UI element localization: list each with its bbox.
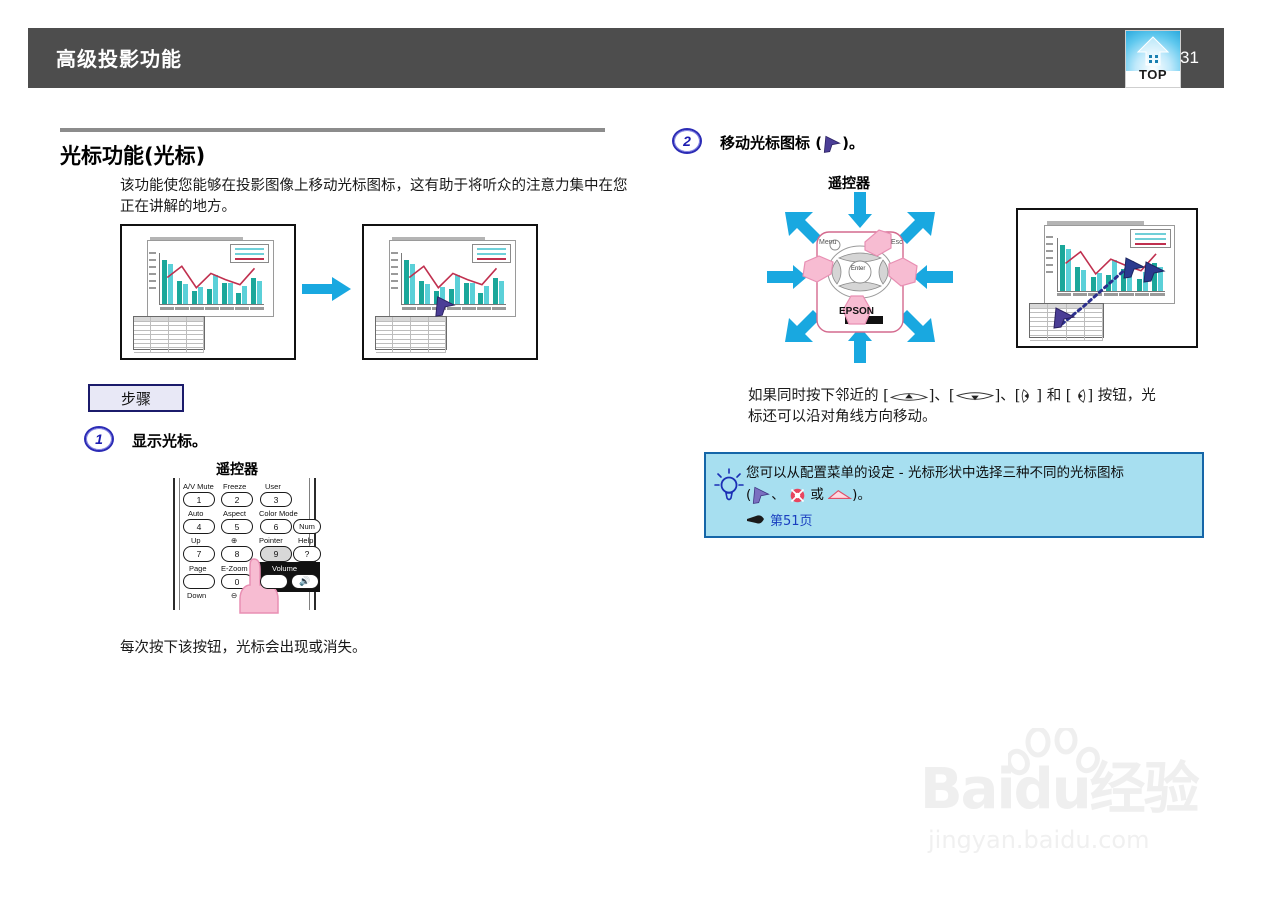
step-2-label-after: )。 <box>842 134 864 152</box>
note-text-1: 如果同时按下邻近的 [ <box>748 388 889 404</box>
step-2-number: 2 <box>672 128 702 154</box>
remote-key-6[interactable]: 6 <box>260 519 292 534</box>
y-axis-ticks <box>391 252 400 306</box>
button-left-icon <box>1020 388 1036 404</box>
button-down-icon <box>955 389 995 404</box>
note-text-2: ]、[ <box>929 388 955 404</box>
page-title: 高级投影功能 <box>56 43 182 72</box>
key-label-pointer: Pointer <box>259 536 283 545</box>
button-up-icon <box>889 389 929 404</box>
key-label-colormode: Color Mode <box>259 509 298 518</box>
key-label-down: Down <box>187 591 206 600</box>
steps-heading-label: 步骤 <box>121 388 151 409</box>
top-badge-label: TOP <box>1126 67 1180 82</box>
tip-separator-1: 、 <box>771 487 785 503</box>
key-label-avmute: A/V Mute <box>183 482 214 491</box>
step-1-note: 每次按下该按钮，光标会出现或消失。 <box>120 638 550 659</box>
steps-heading-box: 步骤 <box>88 384 184 412</box>
y-axis-ticks <box>149 252 158 306</box>
page-number: 31 <box>1180 48 1220 68</box>
note-text-6: 标还可以沿对角线方向移动。 <box>748 409 937 425</box>
key-label-user: User <box>265 482 281 491</box>
top-badge[interactable]: TOP <box>1125 30 1181 88</box>
dpad-direction-diagram: Menu Esc Enter EPSON <box>765 190 955 365</box>
remote-key-7[interactable]: 7 <box>183 546 215 562</box>
lightbulb-icon <box>714 468 744 502</box>
tip-or-word: 或 <box>810 487 824 503</box>
step-1-number: 1 <box>84 426 114 452</box>
key-label-aspect: Aspect <box>223 509 246 518</box>
pointing-hand-icon <box>746 514 766 526</box>
screen-content-before <box>128 232 288 352</box>
step-2-label-before: 移动光标图标 ( <box>720 134 822 152</box>
watermark-url: jingyan.baidu.com <box>928 826 1228 854</box>
projected-image-before <box>120 224 296 360</box>
step-1-label: 显示光标。 <box>132 430 207 451</box>
section-rule <box>60 128 605 132</box>
screen-content-after <box>370 232 530 352</box>
section-title: 光标功能(光标) <box>60 140 205 170</box>
projected-image-cursor-path <box>1016 208 1198 348</box>
key-label-page: Page <box>189 564 207 573</box>
transition-arrow-icon <box>302 276 352 302</box>
projected-image-after <box>362 224 538 360</box>
remote-key-page-down[interactable] <box>183 574 215 589</box>
tip-page-reference[interactable]: 第51页 <box>770 510 813 529</box>
key-label-volume: Volume <box>272 564 297 573</box>
dpad-arrows-svg: Menu Esc Enter EPSON <box>765 190 955 365</box>
remote-key-4[interactable]: 4 <box>183 519 215 534</box>
remote-key-2[interactable]: 2 <box>221 492 253 507</box>
home-arrow-icon <box>1137 35 1169 67</box>
button-right-icon <box>1071 388 1087 404</box>
note-text-3: ]、[ <box>995 388 1021 404</box>
note-text-4: ] 和 [ <box>1036 388 1071 404</box>
target-crosshair-icon <box>789 487 806 504</box>
remote-key-num[interactable]: Num <box>293 519 321 534</box>
intro-paragraph: 该功能使您能够在投影图像上移动光标图标，这有助于将听众的注意力集中在您正在讲解的… <box>120 176 640 218</box>
dpad-label-menu: Menu <box>819 239 837 246</box>
screen-content-cursor-path <box>1024 216 1190 340</box>
step-2-label: 移动光标图标 ()。 <box>720 132 864 154</box>
watermark-brand: Baidu经验 <box>920 762 1220 818</box>
page-header: 高级投影功能 <box>28 28 1224 88</box>
dpad-label-enter: Enter <box>851 266 865 272</box>
step-2-note: 如果同时按下邻近的 []、[]、[] 和 [] 按钮，光标还可以沿对角线方向移动… <box>748 386 1208 428</box>
step-2-badge: 2 <box>672 128 702 154</box>
remote-key-help[interactable]: ? <box>293 546 321 562</box>
tip-line-2: (、 或 )。 <box>746 484 1186 506</box>
tip-callout-box: 您可以从配置菜单的设定 - 光标形状中选择三种不同的光标图标 (、 或 )。 第… <box>704 452 1204 538</box>
chart-legend <box>230 244 269 262</box>
dpad-label-brand: EPSON <box>839 306 874 317</box>
remote-key-3[interactable]: 3 <box>260 492 292 507</box>
cursor-pointer-icon <box>822 134 842 154</box>
key-label-zoom-in: ⊕ <box>231 536 237 545</box>
remote-key-volume-down[interactable] <box>260 574 288 589</box>
cursor-pointer-icon <box>434 294 456 318</box>
step-1-badge: 1 <box>84 426 114 452</box>
key-label-help: Help <box>298 536 313 545</box>
chart-data-table <box>375 316 447 349</box>
remote-key-volume-up[interactable]: 🔊 <box>291 574 319 589</box>
x-axis-labels <box>159 307 264 311</box>
tip-line-1: 您可以从配置菜单的设定 - 光标形状中选择三种不同的光标图标 <box>746 462 1186 484</box>
watermark: Baidu经验 jingyan.baidu.com <box>920 728 1220 860</box>
key-label-auto: Auto <box>188 509 203 518</box>
document-page: 高级投影功能 TOP 31 光标功能(光标) 该功能使您能够在投影图像上移动光标… <box>0 0 1280 905</box>
cursor-motion-path <box>1024 216 1190 340</box>
chart-frame <box>147 240 274 316</box>
remote-key-5[interactable]: 5 <box>221 519 253 534</box>
note-text-5: ] 按钮，光 <box>1087 388 1155 404</box>
remote-key-1[interactable]: 1 <box>183 492 215 507</box>
flat-arrow-icon <box>828 488 852 502</box>
key-label-freeze: Freeze <box>223 482 246 491</box>
key-label-up: Up <box>191 536 201 545</box>
dpad-label-esc: Esc <box>891 239 903 246</box>
cursor-pointer-icon <box>751 485 771 505</box>
tip-paren-close: )。 <box>852 487 871 503</box>
chart-legend <box>472 244 511 262</box>
tip-body: 您可以从配置菜单的设定 - 光标形状中选择三种不同的光标图标 (、 或 )。 <box>746 462 1186 506</box>
chart-data-table <box>133 316 205 349</box>
remote-caption-left: 遥控器 <box>216 459 258 479</box>
